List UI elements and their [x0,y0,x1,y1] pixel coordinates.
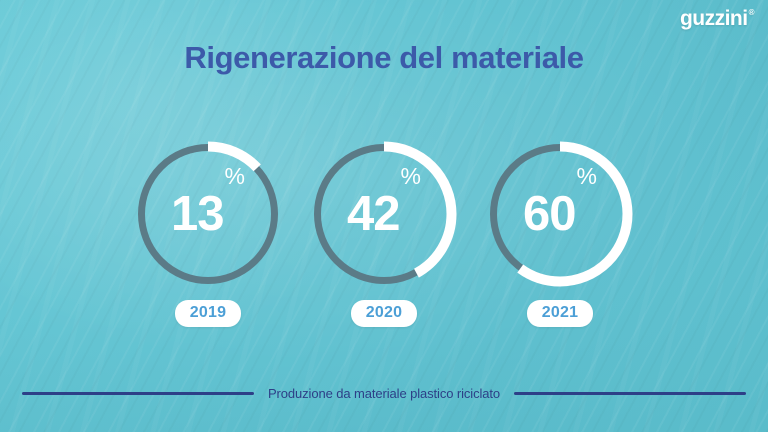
donut-value-2020: 42% [309,139,459,289]
donut-chart-2021: 60% [485,139,635,289]
footer-caption: Produzione da materiale plastico ricicla… [268,386,500,401]
donut-value-2019: 13% [133,139,283,289]
brand-logo-text: guzzini [680,8,748,29]
year-pill-2020: 2020 [351,300,417,327]
donut-chart-2019: 13% [133,139,283,289]
year-pill-wrap-2021: 2021 [485,300,635,327]
year-pill-wrap-2019: 2019 [133,300,283,327]
footer-rule-right [514,392,746,395]
donut-value-number-2020: 42 [347,190,400,239]
donut-value-number-2021: 60 [523,190,576,239]
slide-canvas: guzzini® Rigenerazione del materiale 13%… [0,0,768,432]
registered-trademark-icon: ® [749,9,754,17]
donut-value-unit-2021: % [577,165,597,188]
donut-value-unit-2019: % [225,165,245,188]
donut-chart-2020: 42% [309,139,459,289]
donut-value-2021: 60% [485,139,635,289]
year-label-group: 2019 2020 2021 [0,299,768,327]
footer-caption-bar: Produzione da materiale plastico ricicla… [22,386,746,401]
year-pill-wrap-2020: 2020 [309,300,459,327]
year-pill-2019: 2019 [175,300,241,327]
year-pill-2021: 2021 [527,300,593,327]
donut-value-unit-2020: % [401,165,421,188]
donut-value-number-2019: 13 [171,190,224,239]
page-title: Rigenerazione del materiale [0,40,768,76]
donut-chart-group: 13% 42% 60% [0,139,768,289]
footer-rule-left [22,392,254,395]
brand-logo: guzzini® [680,8,754,29]
